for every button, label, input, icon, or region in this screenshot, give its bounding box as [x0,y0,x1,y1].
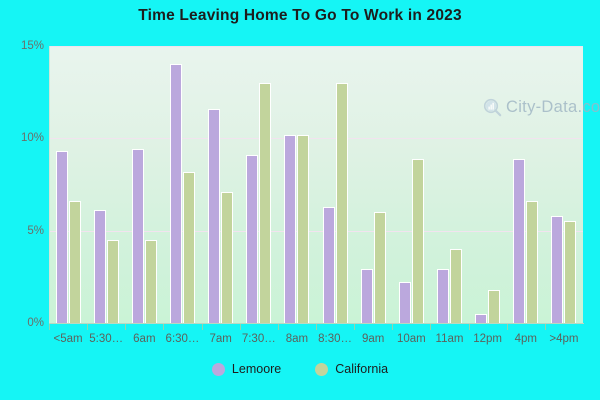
bar[interactable] [564,221,576,323]
bar[interactable] [297,135,309,323]
bar[interactable] [361,269,373,323]
x-tick-mark [430,324,431,330]
bar[interactable] [107,240,119,323]
bar[interactable] [526,201,538,323]
bar[interactable] [170,64,182,323]
bar[interactable] [221,192,233,323]
chart-legend: LemooreCalifornia [0,362,600,376]
bar[interactable] [437,269,449,323]
x-tick-label: 12pm [473,333,502,345]
bar[interactable] [69,201,81,323]
bar[interactable] [323,207,335,323]
x-tick-mark [202,324,203,330]
bar[interactable] [208,109,220,323]
x-tick-mark [125,324,126,330]
chart-title: Time Leaving Home To Go To Work in 2023 [0,7,600,25]
y-tick-label: 10% [4,132,44,144]
x-tick-label: 9am [362,333,384,345]
x-tick-label: 11am [436,333,464,345]
x-tick-mark [392,324,393,330]
bar[interactable] [132,149,144,323]
x-tick-label: 5:30… [89,333,123,345]
x-tick-label: 8:30… [318,333,352,345]
x-tick-label: 8am [286,333,308,345]
x-tick-mark [316,324,317,330]
legend-item-california[interactable]: California [315,362,388,376]
bar[interactable] [56,151,68,323]
x-tick-label: 4pm [515,333,537,345]
magnifier-bar-chart-icon [483,98,502,117]
x-tick-mark [507,324,508,330]
y-axis-line [49,46,50,324]
bar[interactable] [374,212,386,323]
x-tick-label: 10am [397,333,426,345]
bar[interactable] [259,83,271,323]
legend-label: California [335,362,388,376]
gridline [49,231,583,232]
bar[interactable] [183,172,195,323]
x-tick-mark [545,324,546,330]
x-tick-label: 7am [209,333,231,345]
x-tick-mark [354,324,355,330]
bar[interactable] [94,210,106,323]
bar[interactable] [284,135,296,323]
x-tick-label: 6:30… [166,333,200,345]
chart-container: Time Leaving Home To Go To Work in 2023 … [0,0,600,400]
plot-area: City-Data.com [49,46,583,323]
legend-label: Lemoore [232,362,281,376]
x-tick-label: 7:30… [242,333,276,345]
legend-swatch [212,363,225,376]
bar[interactable] [399,282,411,323]
bar[interactable] [488,290,500,323]
x-tick-mark [469,324,470,330]
y-tick-label: 15% [4,40,44,52]
bar[interactable] [412,159,424,323]
bar[interactable] [145,240,157,323]
gridline [49,138,583,139]
x-tick-mark [163,324,164,330]
x-tick-mark [240,324,241,330]
bar[interactable] [246,155,258,323]
x-tick-mark [278,324,279,330]
watermark-text: City-Data.com [506,98,600,117]
bar[interactable] [336,83,348,323]
legend-item-lemoore[interactable]: Lemoore [212,362,281,376]
x-tick-label: >4pm [549,333,578,345]
x-tick-label: <5am [54,333,83,345]
y-tick-label: 5% [4,225,44,237]
bar[interactable] [551,216,563,323]
x-tick-mark [87,324,88,330]
gridline [49,46,583,47]
bar[interactable] [475,314,487,323]
bar[interactable] [450,249,462,323]
x-tick-label: 6am [133,333,155,345]
x-tick-mark [49,324,50,330]
y-tick-label: 0% [4,317,44,329]
legend-swatch [315,363,328,376]
watermark: City-Data.com [483,98,600,117]
bar[interactable] [513,159,525,323]
